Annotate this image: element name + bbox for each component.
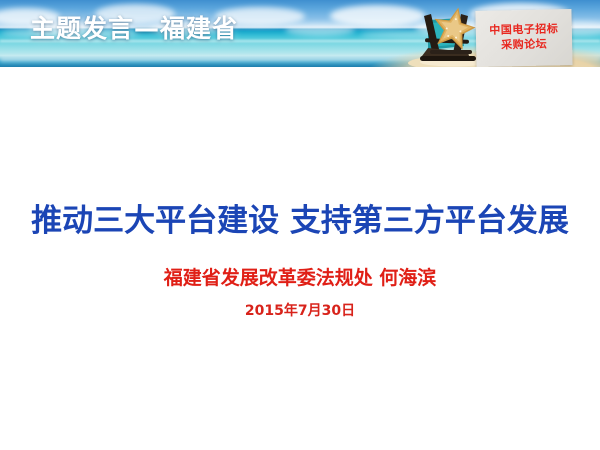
banner-header-title: 主题发言—福建省 <box>30 14 238 44</box>
slide-date: 2015年7月30日 <box>0 301 600 321</box>
forum-logo-sign: 中国电子招标 采购论坛 <box>475 9 572 67</box>
slide-canvas: 中国电子招标 采购论坛 主题发言—福建省 推动三大平台建设 支持第三方平台发展 … <box>0 0 600 450</box>
cloud-shape <box>285 24 355 36</box>
slide-main-title: 推动三大平台建设 支持第三方平台发展 <box>0 200 600 242</box>
banner-beach-photo: 中国电子招标 采购论坛 主题发言—福建省 <box>0 0 600 67</box>
forum-logo-text: 中国电子招标 采购论坛 <box>476 21 573 53</box>
forum-logo-line1: 中国电子招标 <box>476 21 572 38</box>
forum-logo-line2: 采购论坛 <box>476 36 572 53</box>
slide-presenter-subtitle: 福建省发展改革委法规处 何海滨 <box>0 265 600 291</box>
